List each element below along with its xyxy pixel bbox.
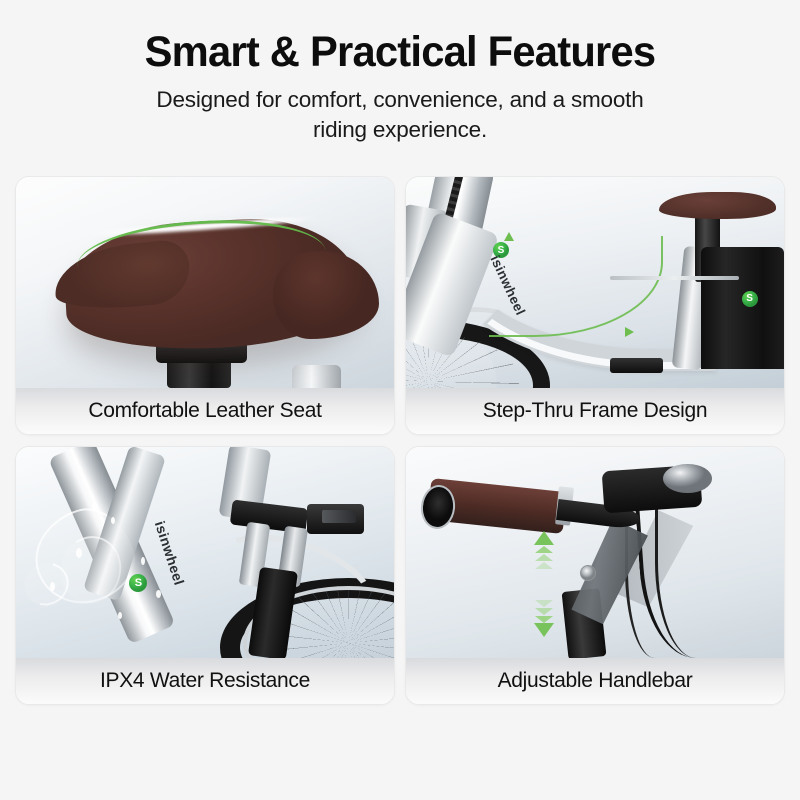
feature-card-comfortable-leather-seat[interactable]: Comfortable Leather Seat	[15, 176, 395, 435]
feature-grid: Comfortable Leather Seat S isinwheel	[15, 176, 785, 705]
water-droplet	[141, 557, 145, 565]
isinwheel-logo-icon: S	[129, 574, 147, 592]
water-droplet	[118, 612, 122, 619]
frame-photo: S isinwheel S	[406, 177, 784, 388]
rear-rack-rail	[610, 276, 739, 280]
battery-pack	[701, 247, 784, 369]
saddle-frame	[659, 192, 776, 219]
water-photo: isinwheel S	[16, 447, 394, 658]
pedal	[610, 358, 663, 373]
arrow-up-icon	[534, 531, 554, 569]
water-droplet	[92, 502, 97, 511]
feature-card-step-thru-frame-design[interactable]: S isinwheel S Step-Thru Frame Design	[405, 176, 785, 435]
page-subtitle: Designed for comfort, convenience, and a…	[140, 85, 660, 144]
page-title: Smart & Practical Features	[27, 30, 774, 75]
green-arrow-head-up	[504, 232, 514, 241]
water-droplet	[111, 517, 115, 524]
seat-photo	[16, 177, 394, 388]
feature-card-ipx4-water-resistance[interactable]: isinwheel S IPX4 Water Resistance	[15, 446, 395, 705]
seat-tube	[292, 365, 341, 388]
height-adjust-indicator	[527, 531, 561, 637]
arrow-down-icon	[534, 599, 554, 637]
feature-page: Smart & Practical Features Designed for …	[0, 0, 800, 800]
card-caption: IPX4 Water Resistance	[16, 658, 394, 704]
headlight-lens	[322, 510, 356, 523]
battery-logo-icon: S	[742, 291, 758, 307]
feature-card-adjustable-handlebar[interactable]: Adjustable Handlebar	[405, 446, 785, 705]
page-header: Smart & Practical Features Designed for …	[15, 0, 785, 145]
stem-pivot-bolt	[580, 565, 596, 581]
card-caption: Adjustable Handlebar	[406, 658, 784, 704]
card-caption: Step-Thru Frame Design	[406, 388, 784, 434]
handlebar-photo	[406, 447, 784, 658]
water-droplet	[50, 582, 55, 591]
green-arrow-head-right	[625, 327, 634, 337]
card-caption: Comfortable Leather Seat	[16, 388, 394, 434]
